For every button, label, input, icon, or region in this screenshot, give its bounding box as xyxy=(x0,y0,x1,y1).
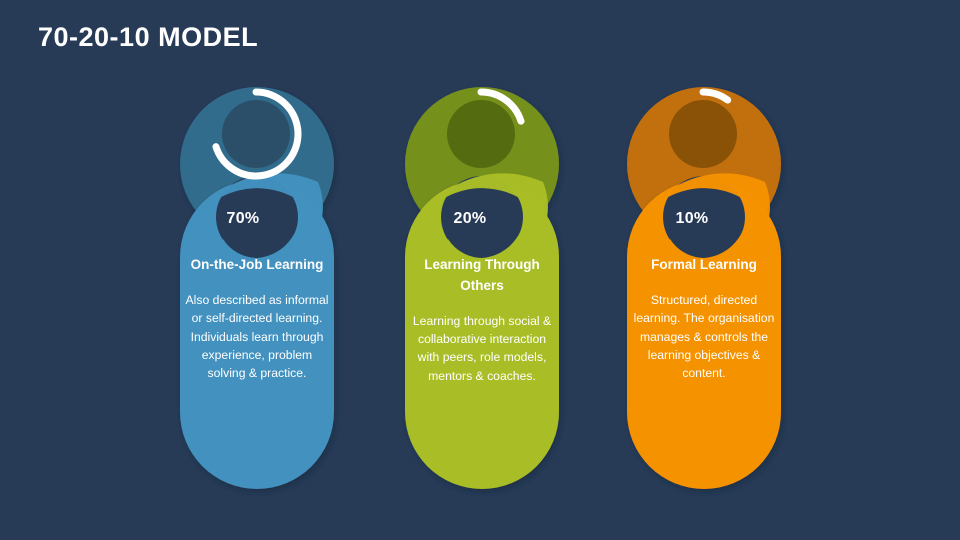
column-on-the-job-learning[interactable]: 70% On-the-Job Learning Also described a… xyxy=(168,87,346,497)
inner-disc xyxy=(669,100,737,168)
inner-disc xyxy=(447,100,515,168)
page-title: 70-20-10 MODEL xyxy=(38,22,258,53)
column-graphic-learning-through-others xyxy=(393,87,571,497)
column-graphic-on-the-job-learning xyxy=(168,87,346,497)
column-graphic-formal-learning xyxy=(615,87,793,497)
column-formal-learning[interactable]: 10% Formal Learning Structured, directed… xyxy=(615,87,793,497)
column-learning-through-others[interactable]: 20% Learning Through Others Learning thr… xyxy=(393,87,571,497)
inner-disc xyxy=(222,100,290,168)
